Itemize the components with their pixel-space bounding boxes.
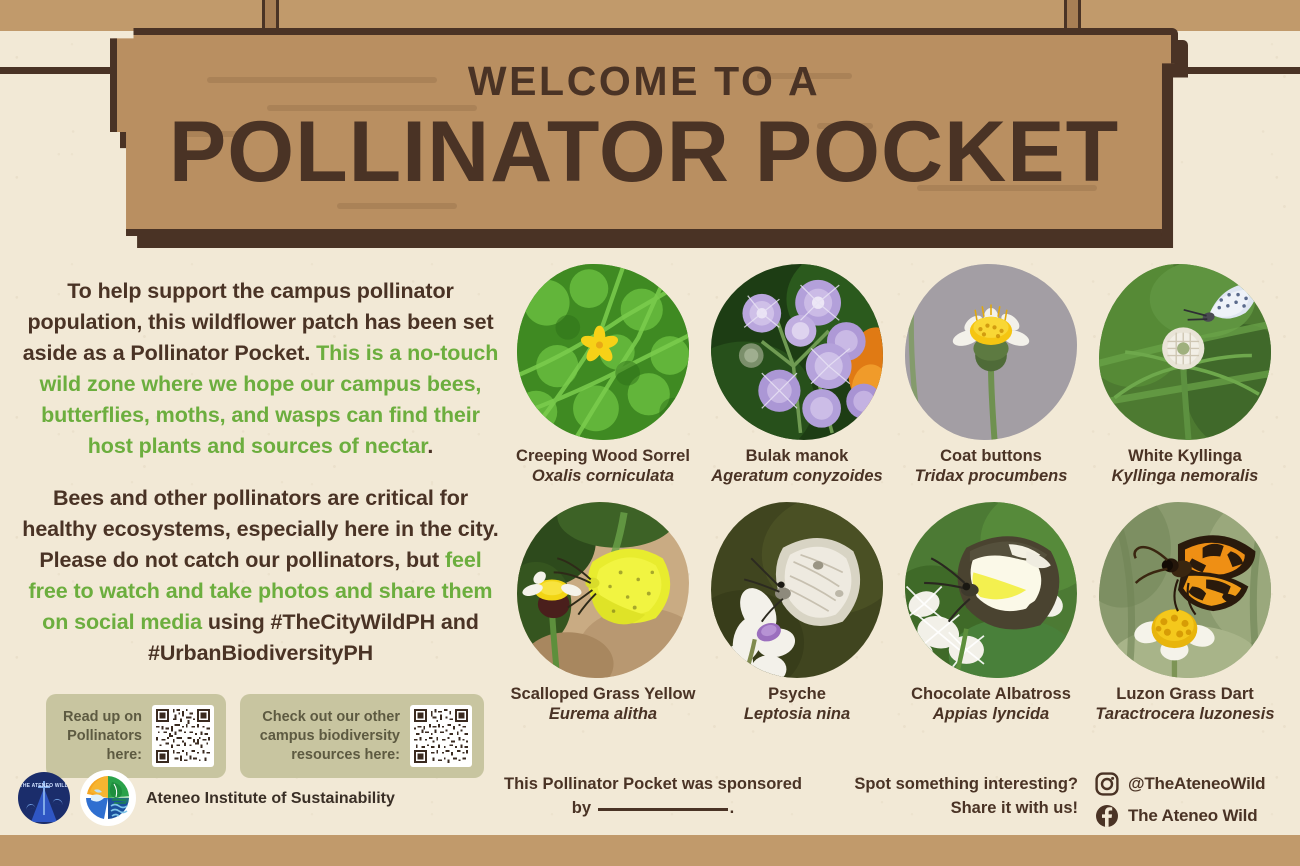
qr-code-icon[interactable] <box>152 705 214 767</box>
species-common-name: Scalloped Grass Yellow <box>506 684 700 704</box>
tridax-photo <box>905 264 1077 440</box>
facebook-handle: The Ateneo Wild <box>1128 806 1257 826</box>
species-grid: Creeping Wood Sorrel Oxalis corniculata <box>506 264 1282 724</box>
species-common-name: Bulak manok <box>700 446 894 466</box>
species-card[interactable]: Scalloped Grass Yellow Eurema alitha <box>506 502 700 724</box>
species-scientific-name: Leptosia nina <box>700 704 894 724</box>
instagram-icon[interactable] <box>1095 772 1119 796</box>
species-common-name: Luzon Grass Dart <box>1088 684 1282 704</box>
instagram-handle: @TheAteneoWild <box>1128 774 1265 794</box>
intro-p2-text-a: Bees and other pollinators are critical … <box>22 486 498 572</box>
ateneo-wild-logo: THE ATENEO WILD <box>18 772 70 824</box>
organization-name: Ateneo Institute of Sustainability <box>146 789 395 808</box>
poster-root: WELCOME TO A POLLINATOR POCKET To help s… <box>0 0 1300 866</box>
instagram-link[interactable]: @TheAteneoWild <box>1095 770 1265 798</box>
species-common-name: Creeping Wood Sorrel <box>506 446 700 466</box>
species-card[interactable]: Creeping Wood Sorrel Oxalis corniculata <box>506 264 700 486</box>
spot-line-2: Share it with us! <box>951 799 1078 817</box>
species-scientific-name: Eurema alitha <box>506 704 700 724</box>
species-card[interactable]: White Kyllinga Kyllinga nemoralis <box>1088 264 1282 486</box>
qr-code-row: Read up on Pollinators here: <box>18 694 503 778</box>
species-row-butterflies: Scalloped Grass Yellow Eurema alitha <box>506 502 1282 724</box>
species-scientific-name: Appias lyncida <box>894 704 1088 724</box>
species-common-name: White Kyllinga <box>1088 446 1282 466</box>
eurema-photo <box>517 502 689 678</box>
spot-line-1: Spot something interesting? <box>854 775 1078 793</box>
species-card[interactable]: Luzon Grass Dart Taractrocera luzonesis <box>1088 502 1282 724</box>
intro-p1-text-b: . <box>427 434 433 458</box>
sponsor-blank-line[interactable] <box>598 808 728 811</box>
leptosia-photo <box>711 502 883 678</box>
left-text-column: To help support the campus pollinator po… <box>18 276 503 778</box>
species-scientific-name: Taractrocera luzonesis <box>1088 704 1282 724</box>
intro-paragraph-1: To help support the campus pollinator po… <box>18 276 503 462</box>
facebook-icon[interactable] <box>1095 804 1119 828</box>
wood-grain-line <box>337 203 457 209</box>
species-scientific-name: Tridax procumbens <box>894 466 1088 486</box>
species-card[interactable]: Chocolate Albatross Appias lyncida <box>894 502 1088 724</box>
wooden-sign: WELCOME TO A POLLINATOR POCKET <box>110 28 1195 248</box>
social-links: @TheAteneoWild The Ateneo Wild <box>1095 770 1265 830</box>
species-scientific-name: Oxalis corniculata <box>506 466 700 486</box>
qr-card-biodiversity[interactable]: Check out our other campus biodiversity … <box>240 694 484 778</box>
sponsor-note: This Pollinator Pocket was sponsored by … <box>498 772 808 820</box>
species-common-name: Chocolate Albatross <box>894 684 1088 704</box>
footer-logos: THE ATENEO WILD <box>18 772 395 824</box>
facebook-link[interactable]: The Ateneo Wild <box>1095 802 1265 830</box>
bottom-band <box>0 835 1300 866</box>
wood-grain-line <box>547 231 697 236</box>
ateneo-sustainability-logo <box>82 772 134 824</box>
ageratum-photo <box>711 264 883 440</box>
kyllinga-photo <box>1099 264 1271 440</box>
species-common-name: Psyche <box>700 684 894 704</box>
sponsor-by-label: by <box>572 799 591 817</box>
spot-prompt: Spot something interesting? Share it wit… <box>838 772 1078 820</box>
wood-sorrel-photo <box>517 264 689 440</box>
top-band <box>0 0 1300 31</box>
welcome-subtitle: WELCOME TO A <box>117 61 1171 102</box>
ateneo-wild-logo-text: THE ATENEO WILD <box>18 784 70 790</box>
sponsor-line-1: This Pollinator Pocket was sponsored <box>504 775 802 793</box>
qr-card-pollinators[interactable]: Read up on Pollinators here: <box>46 694 226 778</box>
species-card[interactable]: Bulak manok Ageratum conyzoides <box>700 264 894 486</box>
appias-photo <box>905 502 1077 678</box>
taractrocera-photo <box>1099 502 1271 678</box>
qr-card-label: Read up on Pollinators here: <box>58 708 142 765</box>
qr-code-icon[interactable] <box>410 705 472 767</box>
species-scientific-name: Ageratum conyzoides <box>700 466 894 486</box>
intro-paragraph-2: Bees and other pollinators are critical … <box>18 483 503 669</box>
species-common-name: Coat buttons <box>894 446 1088 466</box>
sponsor-period: . <box>730 799 735 817</box>
species-row-plants: Creeping Wood Sorrel Oxalis corniculata <box>506 264 1282 486</box>
qr-card-label: Check out our other campus biodiversity … <box>252 708 400 765</box>
sign-board: WELCOME TO A POLLINATOR POCKET <box>110 28 1178 236</box>
species-card[interactable]: Coat buttons Tridax procumbens <box>894 264 1088 486</box>
page-title: POLLINATOR POCKET <box>117 108 1171 197</box>
species-card[interactable]: Psyche Leptosia nina <box>700 502 894 724</box>
species-scientific-name: Kyllinga nemoralis <box>1088 466 1282 486</box>
